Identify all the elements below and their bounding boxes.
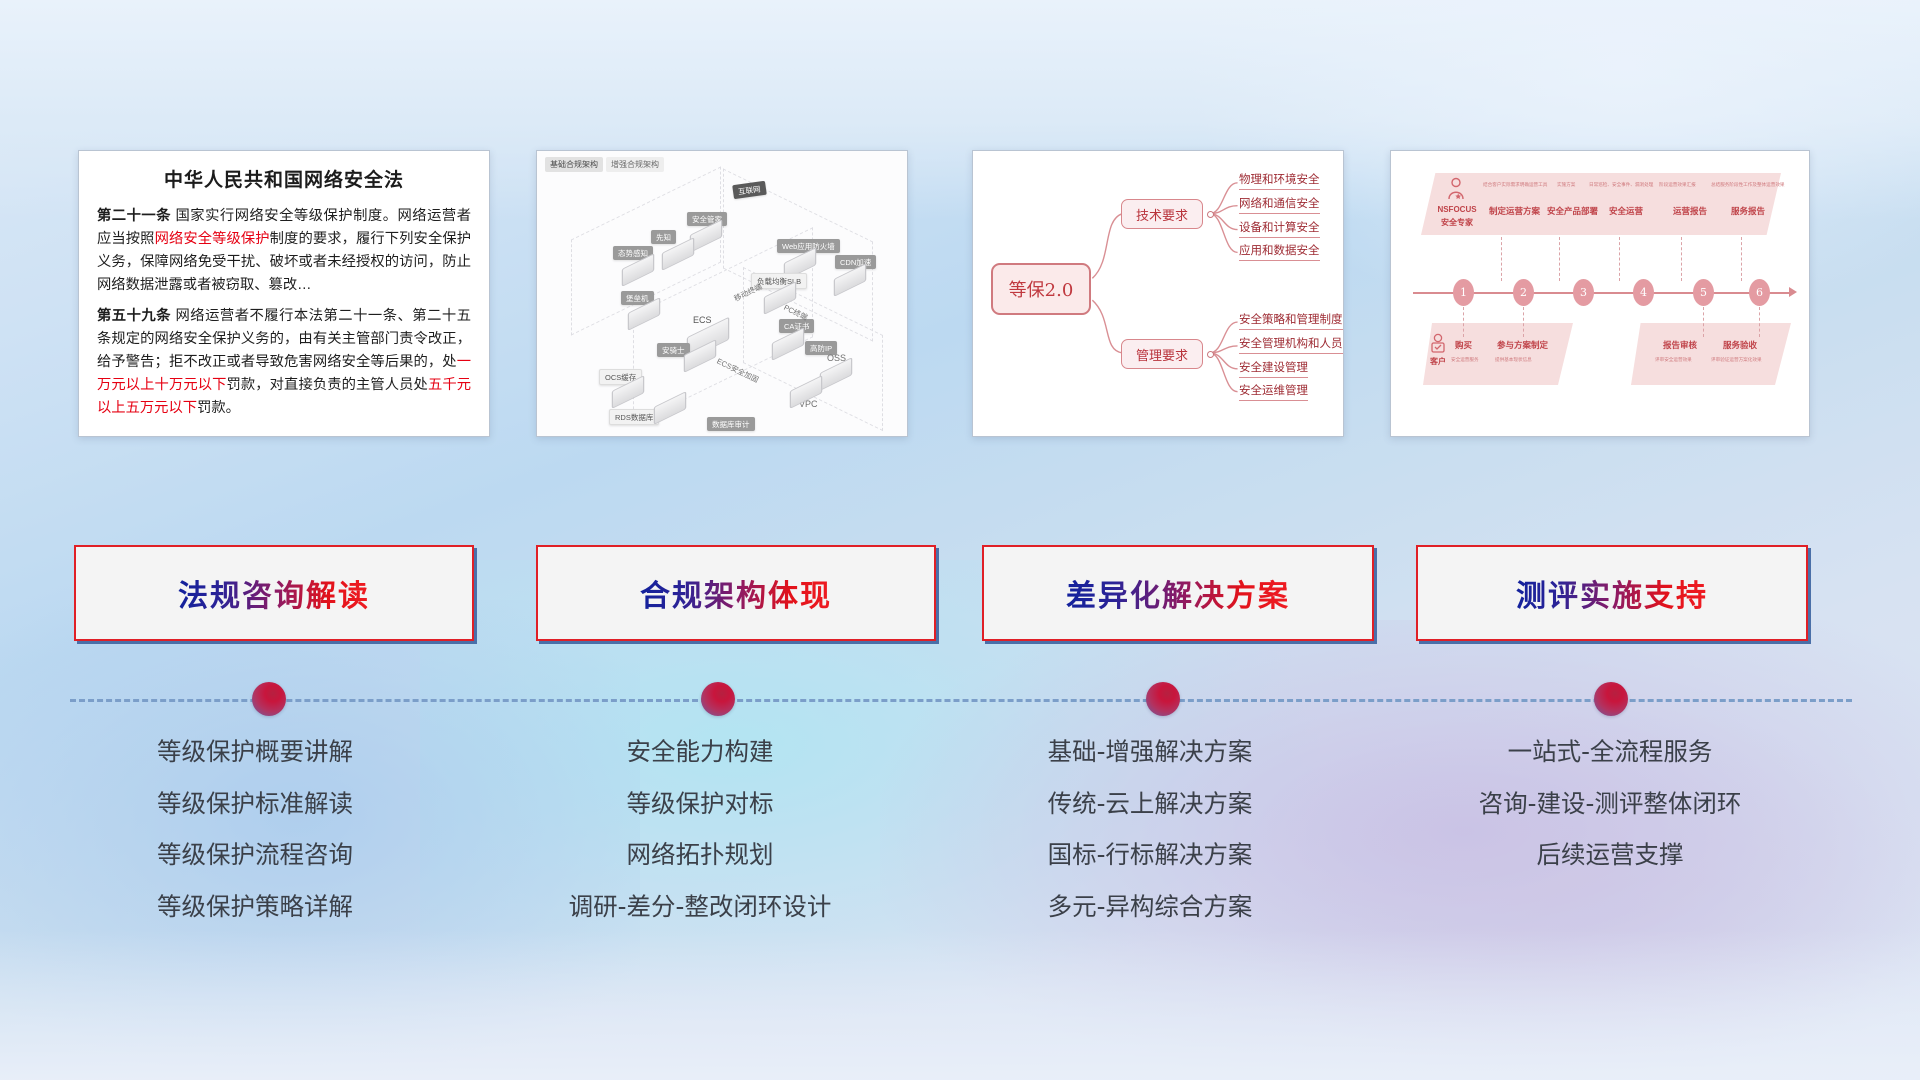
service-bottom-band-right [1631, 323, 1791, 385]
heading-box-regulation-consulting[interactable]: 法规咨询解读 [74, 545, 474, 641]
heading-box-compliance-architecture[interactable]: 合规架构体现 [536, 545, 936, 641]
mindmap-leaf: 网络和通信安全 [1239, 195, 1320, 214]
law-text-highlight: 网络安全等级保护 [155, 231, 270, 247]
detail-column-compliance-architecture: 安全能力构建 等级保护对标 网络拓扑规划 调研-差分-整改闭环设计 [500, 740, 900, 946]
mindmap-leaf: 物理和环境安全 [1239, 171, 1320, 190]
mindmap-leaf: 安全策略和管理制度 [1239, 311, 1343, 330]
service-item-main: 制定运营方案 [1489, 205, 1540, 217]
service-connector [1559, 237, 1560, 281]
service-item-main: 安全运营 [1609, 205, 1643, 217]
law-text-segment: 罚款，对直接负责的主管人员处 [227, 377, 428, 393]
timeline-node-2[interactable] [701, 682, 735, 716]
mindmap-leaf: 安全运维管理 [1239, 382, 1308, 401]
heading-label: 测评实施支持 [1516, 571, 1708, 615]
mindmap-leaf: 设备和计算安全 [1239, 219, 1320, 238]
card-service-timeline[interactable]: NSFOCUS 安全专家 结合客户实际需求明确运营工具 制定运营方案 实施方案 … [1390, 150, 1810, 437]
service-connector [1741, 237, 1742, 281]
list-item: 后续运营支撑 [1400, 843, 1820, 868]
iso-label-database-audit: 数据库审计 [707, 417, 755, 431]
service-connector [1523, 307, 1524, 337]
mindmap-collapse-icon[interactable] [1207, 211, 1214, 218]
list-item: 一站式-全流程服务 [1400, 740, 1820, 765]
expert-person-icon [1445, 177, 1467, 201]
timeline-step[interactable]: 4 [1633, 279, 1654, 306]
brand-name: NSFOCUS [1431, 205, 1483, 214]
service-item-sub: 实施方案 [1557, 182, 1575, 188]
mindmap-root-node[interactable]: 等保2.0 [991, 263, 1091, 315]
heading-label: 法规咨询解读 [178, 571, 370, 615]
architecture-tabs[interactable]: 基础合规架构 增强合规架构 [545, 157, 664, 172]
customer-person-icon [1429, 333, 1447, 355]
card-cybersecurity-law[interactable]: 中华人民共和国网络安全法 第二十一条 国家实行网络安全等级保护制度。网络运营者应… [78, 150, 490, 437]
iso-label-rds-database: RDS数据库 [609, 409, 659, 425]
service-connector [1703, 307, 1704, 337]
mindmap-branch-technical[interactable]: 技术要求 [1121, 199, 1203, 229]
service-connector [1501, 237, 1502, 281]
service-connector [1463, 307, 1464, 337]
list-item: 等级保护概要讲解 [60, 740, 450, 765]
list-item: 国标-行标解决方案 [950, 843, 1350, 868]
iso-label-ecs: ECS [693, 315, 712, 325]
timeline-step[interactable]: 3 [1573, 279, 1594, 306]
list-item: 等级保护策略详解 [60, 895, 450, 920]
card-compliance-architecture[interactable]: 基础合规架构 增强合规架构 互联网 安全管家 先知 态势感知 堡垒机 ECS [536, 150, 908, 437]
service-connector [1759, 307, 1760, 337]
mindmap-leaf: 安全建设管理 [1239, 359, 1308, 378]
heading-box-assessment-support[interactable]: 测评实施支持 [1416, 545, 1808, 641]
card-mindmap-dengbao[interactable]: 等保2.0 技术要求 物理和环境安全 网络和通信安全 设备和计算安全 应用和数据… [972, 150, 1344, 437]
law-paragraph: 第五十九条 网络运营者不履行本法第二十一条、第二十五条规定的网络安全保护义务的，… [97, 305, 471, 421]
detail-column-assessment-support: 一站式-全流程服务 咨询-建设-测评整体闭环 后续运营支撑 [1400, 740, 1820, 895]
service-connector [1681, 237, 1682, 281]
mindmap-branch-management[interactable]: 管理要求 [1121, 339, 1203, 369]
tab-enhanced-architecture[interactable]: 增强合规架构 [606, 157, 664, 172]
service-item-main: 运营报告 [1673, 205, 1707, 217]
timeline-arrow-icon [1789, 287, 1797, 297]
mindmap-leaf: 安全管理机构和人员 [1239, 335, 1343, 354]
service-item-main: 购买 [1455, 339, 1472, 351]
service-item-sub: 提供基本现状信息 [1495, 357, 1532, 363]
preview-cards: 中华人民共和国网络安全法 第二十一条 国家实行网络安全等级保护制度。网络运营者应… [0, 150, 1920, 440]
law-text-segment: 罚款。 [197, 400, 240, 416]
list-item: 等级保护标准解读 [60, 792, 450, 817]
timeline-node-1[interactable] [252, 682, 286, 716]
customer-role-label: 客户 [1423, 356, 1453, 367]
service-item-sub: 阶段运营效果汇报 [1659, 182, 1696, 188]
brand-subtitle: 安全专家 [1431, 217, 1483, 228]
service-item-main: 服务验收 [1723, 339, 1757, 351]
list-item: 传统-云上解决方案 [950, 792, 1350, 817]
law-paragraph: 第二十一条 国家实行网络安全等级保护制度。网络运营者应当按照网络安全等级保护制度… [97, 205, 471, 298]
list-item: 等级保护对标 [500, 792, 900, 817]
service-item-sub: 结合客户实际需求明确运营工具 [1483, 182, 1547, 188]
list-item: 多元-异构综合方案 [950, 895, 1350, 920]
service-item-main: 报告审核 [1663, 339, 1697, 351]
service-item-sub: 评审安全运营效果 [1655, 357, 1692, 363]
list-item: 基础-增强解决方案 [950, 740, 1350, 765]
service-connector [1619, 237, 1620, 281]
mindmap-collapse-icon[interactable] [1207, 351, 1214, 358]
timeline-step[interactable]: 6 [1749, 279, 1770, 306]
timeline-node-3[interactable] [1146, 682, 1180, 716]
service-item-sub: 总结服务阶段性工作及整体运营效果 [1711, 182, 1785, 188]
process-timeline [0, 690, 1920, 730]
timeline-step[interactable]: 2 [1513, 279, 1534, 306]
detail-columns: 等级保护概要讲解 等级保护标准解读 等级保护流程咨询 等级保护策略详解 安全能力… [0, 740, 1920, 960]
service-item-sub: 安全运营服务 [1451, 357, 1479, 363]
timeline-node-4[interactable] [1594, 682, 1628, 716]
timeline-step[interactable]: 5 [1693, 279, 1714, 306]
detail-column-differentiated-solution: 基础-增强解决方案 传统-云上解决方案 国标-行标解决方案 多元-异构综合方案 [950, 740, 1350, 946]
iso-label-xianzhi: 先知 [651, 230, 676, 244]
service-item-sub: 日常巡检、安全事件、漏洞处理 [1589, 182, 1653, 188]
heading-row: 法规咨询解读 合规架构体现 差异化解决方案 测评实施支持 [0, 545, 1920, 641]
law-article-label: 第五十九条 [97, 308, 171, 324]
list-item: 网络拓扑规划 [500, 843, 900, 868]
mindmap-leaf: 应用和数据安全 [1239, 242, 1320, 261]
timeline-step[interactable]: 1 [1453, 279, 1474, 306]
tab-basic-architecture[interactable]: 基础合规架构 [545, 157, 603, 172]
timeline-dashed-line [70, 699, 1852, 702]
heading-box-differentiated-solution[interactable]: 差异化解决方案 [982, 545, 1374, 641]
list-item: 安全能力构建 [500, 740, 900, 765]
list-item: 调研-差分-整改闭环设计 [500, 895, 900, 920]
law-title: 中华人民共和国网络安全法 [97, 165, 471, 192]
list-item: 咨询-建设-测评整体闭环 [1400, 792, 1820, 817]
service-item-main: 安全产品部署 [1547, 205, 1598, 217]
service-item-sub: 评审验证运营方案化效果 [1711, 357, 1762, 363]
service-item-main: 参与方案制定 [1497, 339, 1548, 351]
heading-label: 合规架构体现 [640, 571, 832, 615]
list-item: 等级保护流程咨询 [60, 843, 450, 868]
service-item-main: 服务报告 [1731, 205, 1765, 217]
heading-label: 差异化解决方案 [1066, 571, 1290, 615]
law-article-label: 第二十一条 [97, 208, 171, 224]
detail-column-regulation-consulting: 等级保护概要讲解 等级保护标准解读 等级保护流程咨询 等级保护策略详解 [60, 740, 450, 946]
